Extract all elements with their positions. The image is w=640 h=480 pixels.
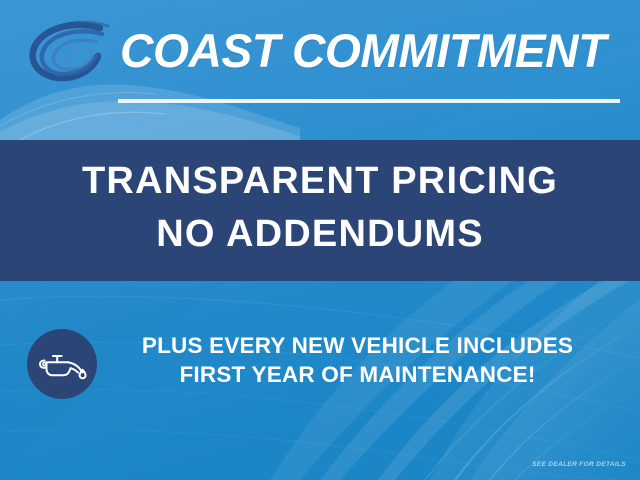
oil-can-icon bbox=[27, 329, 97, 399]
wave-swirl-glyph bbox=[22, 18, 118, 86]
promo-line-2: FIRST YEAR OF MAINTENANCE! bbox=[105, 360, 610, 389]
header-divider bbox=[118, 99, 620, 103]
coast-commitment-banner: COAST COMMITMENT TRANSPARENT PRICING NO … bbox=[0, 0, 640, 480]
headline-line-1: TRANSPARENT PRICING bbox=[0, 159, 640, 203]
headline-band: TRANSPARENT PRICING NO ADDENDUMS bbox=[0, 140, 640, 281]
promo-row: PLUS EVERY NEW VEHICLE INCLUDES FIRST YE… bbox=[0, 325, 640, 407]
promo-text-block: PLUS EVERY NEW VEHICLE INCLUDES FIRST YE… bbox=[105, 331, 610, 389]
oil-can-glyph bbox=[27, 329, 97, 399]
disclaimer-text: SEE DEALER FOR DETAILS bbox=[532, 461, 626, 468]
banner-header: COAST COMMITMENT bbox=[0, 0, 640, 140]
coast-wave-logo-icon bbox=[22, 18, 118, 86]
brand-title: COAST COMMITMENT bbox=[120, 22, 620, 80]
headline-line-2: NO ADDENDUMS bbox=[0, 212, 640, 256]
promo-line-1: PLUS EVERY NEW VEHICLE INCLUDES bbox=[105, 331, 610, 360]
